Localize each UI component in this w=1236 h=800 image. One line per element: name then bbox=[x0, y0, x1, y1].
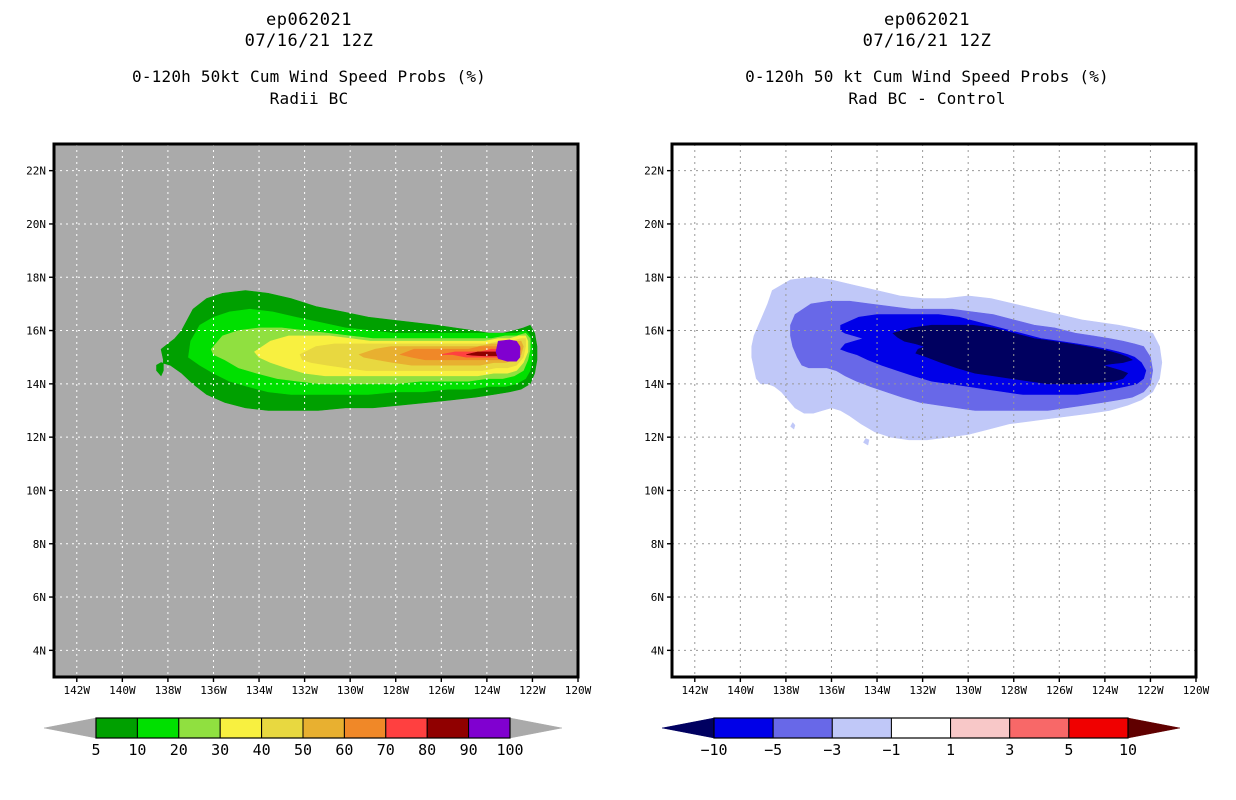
x-tick-label: 132W bbox=[291, 684, 318, 696]
x-tick-label: 128W bbox=[382, 684, 409, 696]
plot-area-right[interactable]: 4N6N8N10N12N14N16N18N20N22N142W140W138W1… bbox=[618, 136, 1236, 696]
y-tick-label: 16N bbox=[644, 325, 664, 338]
chart-page: ep062021 07/16/21 12Z 0-120h 50kt Cum Wi… bbox=[0, 0, 1236, 800]
colorbar-extend-high bbox=[1128, 718, 1180, 738]
panel-right-date-time: 07/16/21 12Z bbox=[618, 31, 1236, 52]
colorbar-tick-label: 100 bbox=[496, 741, 523, 759]
panel-left: ep062021 07/16/21 12Z 0-120h 50kt Cum Wi… bbox=[0, 0, 618, 800]
x-tick-label: 120W bbox=[565, 684, 592, 696]
x-tick-label: 128W bbox=[1000, 684, 1027, 696]
colorbar-tick-label: −5 bbox=[764, 741, 782, 759]
x-tick-label: 124W bbox=[474, 684, 501, 696]
y-tick-label: 12N bbox=[644, 431, 664, 444]
x-tick-label: 134W bbox=[246, 684, 273, 696]
x-tick-label: 136W bbox=[818, 684, 845, 696]
x-tick-label: 130W bbox=[955, 684, 982, 696]
colorbar-tick-label: 5 bbox=[1064, 741, 1073, 759]
colorbar-extend-low bbox=[662, 718, 714, 738]
x-tick-label: 124W bbox=[1092, 684, 1119, 696]
x-tick-label: 138W bbox=[155, 684, 182, 696]
colorbar-tick-label: 40 bbox=[253, 741, 271, 759]
colorbar-right[interactable]: −10−5−3−113510 bbox=[618, 700, 1236, 770]
panel-left-titles: ep062021 07/16/21 12Z 0-120h 50kt Cum Wi… bbox=[0, 0, 618, 110]
x-tick-label: 136W bbox=[200, 684, 227, 696]
colorbar-tick-label: 10 bbox=[128, 741, 146, 759]
colorbar-band-5[interactable] bbox=[1010, 718, 1069, 738]
panel-right-title-sub: Rad BC - Control bbox=[618, 88, 1236, 110]
colorbar-tick-label: 60 bbox=[335, 741, 353, 759]
colorbar-band-8[interactable] bbox=[427, 718, 468, 738]
x-tick-label: 142W bbox=[64, 684, 91, 696]
colorbar-band-4[interactable] bbox=[262, 718, 303, 738]
x-tick-label: 126W bbox=[1046, 684, 1073, 696]
colorbar-band-2[interactable] bbox=[832, 718, 891, 738]
x-tick-label: 120W bbox=[1183, 684, 1210, 696]
x-tick-label: 126W bbox=[428, 684, 455, 696]
x-tick-label: 122W bbox=[519, 684, 546, 696]
colorbar-band-0[interactable] bbox=[714, 718, 773, 738]
y-tick-label: 4N bbox=[651, 644, 664, 657]
colorbar-tick-label: 50 bbox=[294, 741, 312, 759]
y-tick-label: 14N bbox=[26, 378, 46, 391]
colorbar-extend-low bbox=[44, 718, 96, 738]
colorbar-left[interactable]: 5102030405060708090100 bbox=[0, 700, 618, 770]
y-tick-label: 22N bbox=[26, 165, 46, 178]
colorbar-tick-label: 5 bbox=[91, 741, 100, 759]
colorbar-tick-label: 20 bbox=[170, 741, 188, 759]
panel-left-storm-id: ep062021 bbox=[0, 10, 618, 31]
y-tick-label: 10N bbox=[26, 484, 46, 497]
colorbar-extend-high bbox=[510, 718, 562, 738]
panel-left-title-sub: Radii BC bbox=[0, 88, 618, 110]
y-tick-label: 20N bbox=[644, 218, 664, 231]
panel-left-title-main: 0-120h 50kt Cum Wind Speed Probs (%) bbox=[0, 66, 618, 88]
y-tick-label: 22N bbox=[644, 165, 664, 178]
colorbar-band-5[interactable] bbox=[303, 718, 344, 738]
x-tick-label: 122W bbox=[1137, 684, 1164, 696]
colorbar-band-1[interactable] bbox=[137, 718, 178, 738]
panel-right-plot: 4N6N8N10N12N14N16N18N20N22N142W140W138W1… bbox=[618, 136, 1236, 696]
colorbar-tick-label: 30 bbox=[211, 741, 229, 759]
panel-left-date-time: 07/16/21 12Z bbox=[0, 31, 618, 52]
panel-left-colorbar: 5102030405060708090100 bbox=[0, 700, 618, 770]
x-tick-label: 140W bbox=[727, 684, 754, 696]
plot-area-left[interactable]: 4N6N8N10N12N14N16N18N20N22N142W140W138W1… bbox=[0, 136, 618, 696]
colorbar-band-1[interactable] bbox=[773, 718, 832, 738]
y-tick-label: 16N bbox=[26, 325, 46, 338]
panel-right: ep062021 07/16/21 12Z 0-120h 50 kt Cum W… bbox=[618, 0, 1236, 800]
x-tick-label: 138W bbox=[773, 684, 800, 696]
contour-level-90 bbox=[496, 340, 520, 361]
y-tick-label: 6N bbox=[651, 591, 664, 604]
y-tick-label: 6N bbox=[33, 591, 46, 604]
colorbar-tick-label: −10 bbox=[700, 741, 727, 759]
y-tick-label: 14N bbox=[644, 378, 664, 391]
colorbar-tick-label: 3 bbox=[1005, 741, 1014, 759]
colorbar-tick-label: 1 bbox=[946, 741, 955, 759]
y-tick-label: 8N bbox=[651, 538, 664, 551]
y-tick-label: 18N bbox=[644, 271, 664, 284]
y-tick-label: 8N bbox=[33, 538, 46, 551]
colorbar-band-2[interactable] bbox=[179, 718, 220, 738]
colorbar-band-9[interactable] bbox=[469, 718, 510, 738]
colorbar-band-3[interactable] bbox=[891, 718, 950, 738]
colorbar-band-6[interactable] bbox=[344, 718, 385, 738]
panel-right-title-main: 0-120h 50 kt Cum Wind Speed Probs (%) bbox=[618, 66, 1236, 88]
colorbar-band-6[interactable] bbox=[1069, 718, 1128, 738]
x-tick-label: 140W bbox=[109, 684, 136, 696]
x-tick-label: 130W bbox=[337, 684, 364, 696]
y-tick-label: 4N bbox=[33, 644, 46, 657]
panel-right-storm-id: ep062021 bbox=[618, 10, 1236, 31]
colorbar-tick-label: 10 bbox=[1119, 741, 1137, 759]
colorbar-tick-label: −1 bbox=[882, 741, 900, 759]
panel-right-colorbar: −10−5−3−113510 bbox=[618, 700, 1236, 770]
colorbar-tick-label: −3 bbox=[823, 741, 841, 759]
colorbar-band-3[interactable] bbox=[220, 718, 261, 738]
panel-right-titles: ep062021 07/16/21 12Z 0-120h 50 kt Cum W… bbox=[618, 0, 1236, 110]
y-tick-label: 12N bbox=[26, 431, 46, 444]
colorbar-tick-label: 80 bbox=[418, 741, 436, 759]
panel-left-plot: 4N6N8N10N12N14N16N18N20N22N142W140W138W1… bbox=[0, 136, 618, 696]
colorbar-band-4[interactable] bbox=[951, 718, 1010, 738]
colorbar-tick-label: 70 bbox=[377, 741, 395, 759]
colorbar-tick-label: 90 bbox=[460, 741, 478, 759]
x-tick-label: 134W bbox=[864, 684, 891, 696]
colorbar-band-7[interactable] bbox=[386, 718, 427, 738]
x-tick-label: 142W bbox=[682, 684, 709, 696]
colorbar-band-0[interactable] bbox=[96, 718, 137, 738]
y-tick-label: 20N bbox=[26, 218, 46, 231]
y-tick-label: 18N bbox=[26, 271, 46, 284]
x-tick-label: 132W bbox=[909, 684, 936, 696]
y-tick-label: 10N bbox=[644, 484, 664, 497]
